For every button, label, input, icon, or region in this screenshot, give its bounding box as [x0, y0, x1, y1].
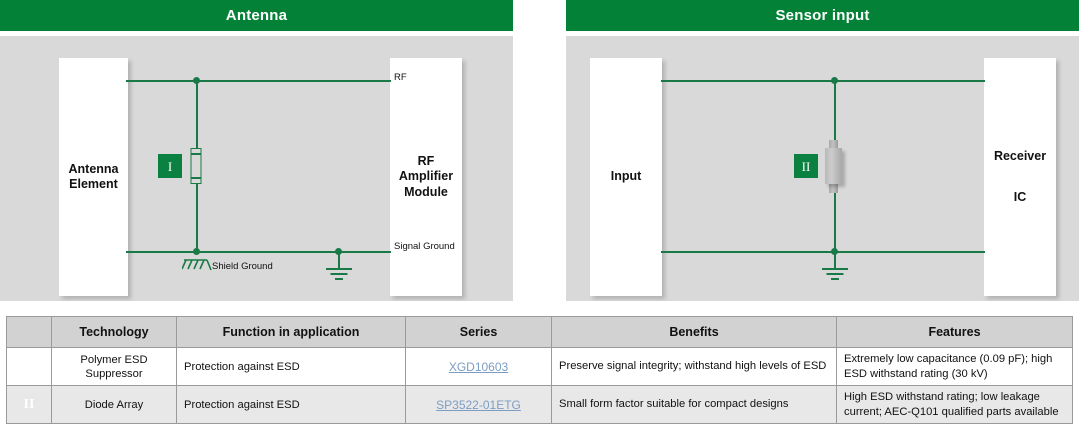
table-header-ref: [7, 317, 52, 348]
block-input-line1: Input: [611, 169, 642, 184]
series-link-xgd10603[interactable]: XGD10603: [449, 360, 508, 374]
table-row: II Diode Array Protection against ESD SP…: [7, 386, 1073, 424]
legend-table: Technology Function in application Serie…: [6, 316, 1073, 424]
node-top-junction: [193, 77, 200, 84]
wire-top-rail: [126, 80, 391, 82]
panel-antenna: Antenna Antenna Element RF Amplifier Mod…: [0, 0, 513, 308]
block-antenna-element: Antenna Element: [59, 58, 128, 296]
ref-badge-ii: II: [794, 154, 818, 178]
diagram-panels: Antenna Antenna Element RF Amplifier Mod…: [0, 0, 1079, 308]
block-receiver-line1: Receiver: [994, 149, 1046, 164]
shield-ground-label: Shield Ground: [212, 261, 273, 272]
block-receiver-line2: IC: [1014, 190, 1027, 205]
table-cell-technology: Polymer ESD Suppressor: [52, 348, 177, 386]
wire-sensor-bottom-rail: [661, 251, 985, 253]
panel-sensor-body: Input Receiver IC II: [566, 36, 1079, 301]
component-symbol-ii: [823, 139, 847, 193]
panel-antenna-title: Antenna: [0, 0, 513, 31]
component-ii-body: [825, 148, 842, 184]
block-receiver-ic: Receiver IC: [984, 58, 1056, 296]
table-header-features: Features: [837, 317, 1073, 348]
block-antenna-element-line2: Element: [69, 177, 118, 192]
block-rf-amplifier-line3: Module: [404, 185, 448, 200]
shield-ground-label-line2: Ground: [241, 261, 273, 272]
table-header-technology: Technology: [52, 317, 177, 348]
port-label-signal-ground-line1: Signal: [394, 241, 420, 252]
table-cell-function: Protection against ESD: [177, 348, 406, 386]
block-antenna-element-line1: Antenna: [69, 162, 119, 177]
block-rf-amplifier-module: RF Amplifier Module: [390, 58, 462, 296]
table-cell-benefits: Preserve signal integrity; withstand hig…: [552, 348, 837, 386]
node-bottom-junction: [193, 248, 200, 255]
block-rf-amplifier-line1: RF: [418, 154, 435, 169]
series-link-sp3522-01etg[interactable]: SP3522-01ETG: [436, 398, 521, 412]
table-cell-function: Protection against ESD: [177, 386, 406, 424]
table-cell-technology: Diode Array: [52, 386, 177, 424]
port-label-signal-ground-line2: Ground: [423, 241, 455, 252]
panel-sensor-title: Sensor input: [566, 0, 1079, 31]
table-cell-series: SP3522-01ETG: [406, 386, 552, 424]
table-header-row: Technology Function in application Serie…: [7, 317, 1073, 348]
wire-bottom-rail: [126, 251, 391, 253]
table-header-series: Series: [406, 317, 552, 348]
block-input: Input: [590, 58, 662, 296]
port-label-signal-ground: Signal Ground: [394, 241, 455, 252]
table-cell-features: High ESD withstand rating; low leakage c…: [837, 386, 1073, 424]
panel-sensor-input: Sensor input Input Receiver IC: [566, 0, 1079, 308]
wire-sensor-ground-stub: [834, 251, 836, 269]
earth-ground-icon-antenna: [326, 268, 352, 284]
table-cell-series: XGD10603: [406, 348, 552, 386]
wire-signal-ground-stub: [338, 251, 340, 269]
panel-antenna-body: Antenna Element RF Amplifier Module RF S…: [0, 36, 513, 301]
table-row: I Polymer ESD Suppressor Protection agai…: [7, 348, 1073, 386]
table-header-function: Function in application: [177, 317, 406, 348]
table-row-ref-i: I: [7, 348, 52, 386]
table-row-ref-ii: II: [7, 386, 52, 424]
legend-table-wrap: Technology Function in application Serie…: [6, 316, 1073, 424]
chassis-ground-icon: [182, 255, 212, 273]
table-cell-benefits: Small form factor suitable for compact d…: [552, 386, 837, 424]
block-rf-amplifier-line2: Amplifier: [399, 169, 453, 184]
component-symbol-i: [191, 148, 202, 184]
table-cell-features: Extremely low capacitance (0.09 pF); hig…: [837, 348, 1073, 386]
wire-sensor-top-rail: [661, 80, 985, 82]
node-sensor-top-junction: [831, 77, 838, 84]
table-header-benefits: Benefits: [552, 317, 837, 348]
technology-line2: Suppressor: [85, 368, 142, 380]
ref-badge-i: I: [158, 154, 182, 178]
port-label-rf: RF: [394, 72, 407, 83]
technology-line1: Polymer ESD: [80, 354, 147, 366]
shield-ground-label-line1: Shield: [212, 261, 238, 272]
earth-ground-icon-sensor: [822, 268, 848, 284]
